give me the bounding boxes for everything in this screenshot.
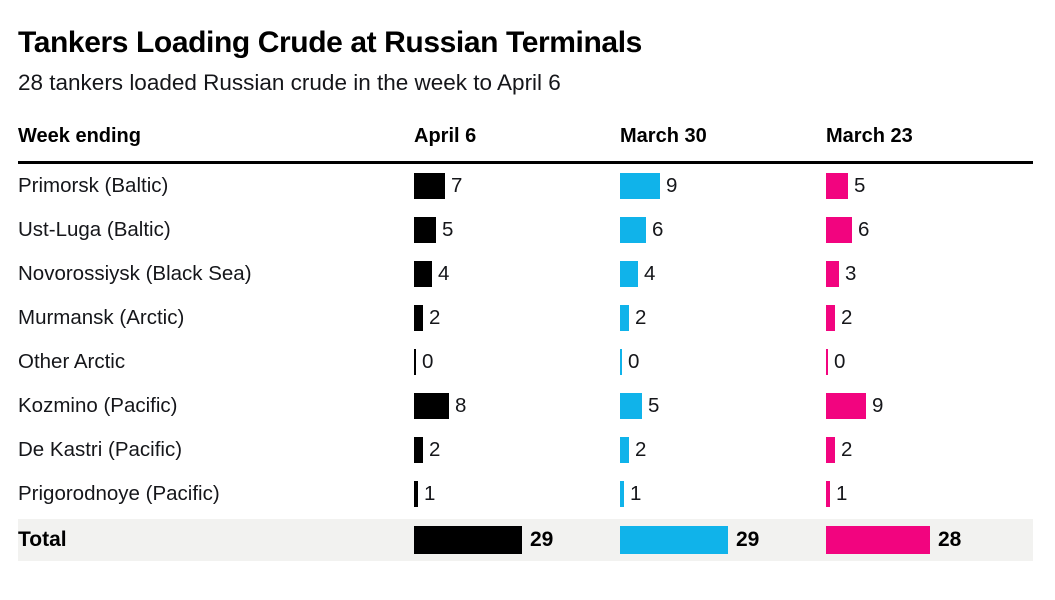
bar-cell-series-0: 0	[414, 349, 620, 375]
bar-series-2	[826, 217, 852, 243]
bar-series-0	[414, 349, 416, 375]
row-label: Prigorodnoye (Pacific)	[18, 482, 414, 506]
total-label: Total	[18, 528, 414, 552]
bar-cell-series-2: 9	[826, 393, 1032, 419]
total-cell-series-0: 29	[414, 526, 620, 554]
row-label: Ust-Luga (Baltic)	[18, 218, 414, 242]
row-label: Kozmino (Pacific)	[18, 394, 414, 418]
total-value-series-2: 28	[938, 528, 961, 552]
column-header-series-1: March 30	[620, 125, 826, 148]
bar-value-series-1: 2	[635, 306, 646, 330]
bar-value-series-0: 8	[455, 394, 466, 418]
total-bar-series-0	[414, 526, 522, 554]
total-value-series-0: 29	[530, 528, 553, 552]
bar-series-0	[414, 217, 436, 243]
bar-series-1	[620, 173, 660, 199]
row-label: Primorsk (Baltic)	[18, 174, 414, 198]
bar-series-1	[620, 481, 624, 507]
bar-cell-series-2: 0	[826, 349, 1032, 375]
page-title: Tankers Loading Crude at Russian Termina…	[18, 0, 1037, 60]
bar-series-0	[414, 481, 418, 507]
bar-value-series-0: 2	[429, 306, 440, 330]
table-row: Prigorodnoye (Pacific)111	[18, 472, 1033, 516]
table-row: Ust-Luga (Baltic)566	[18, 208, 1033, 252]
bar-cell-series-1: 9	[620, 173, 826, 199]
table-body: Primorsk (Baltic)795Ust-Luga (Baltic)566…	[18, 164, 1033, 516]
row-label: Murmansk (Arctic)	[18, 306, 414, 330]
bar-series-2	[826, 393, 866, 419]
bar-value-series-0: 0	[422, 350, 433, 374]
bar-series-1	[620, 217, 646, 243]
table-total-row: Total 29 29 28	[18, 519, 1033, 561]
bar-value-series-1: 9	[666, 174, 677, 198]
bar-value-series-1: 1	[630, 482, 641, 506]
bar-series-2	[826, 305, 835, 331]
total-cell-series-2: 28	[826, 526, 1032, 554]
bar-cell-series-2: 2	[826, 437, 1032, 463]
bar-series-2	[826, 173, 848, 199]
bar-series-2	[826, 349, 828, 375]
bar-series-1	[620, 393, 642, 419]
row-label: Other Arctic	[18, 350, 414, 374]
bar-cell-series-1: 2	[620, 437, 826, 463]
bar-series-0	[414, 305, 423, 331]
bar-series-1	[620, 437, 629, 463]
total-bar-series-2	[826, 526, 930, 554]
bar-value-series-2: 0	[834, 350, 845, 374]
bar-cell-series-1: 4	[620, 261, 826, 287]
bar-value-series-1: 0	[628, 350, 639, 374]
table-row: De Kastri (Pacific)222	[18, 428, 1033, 472]
data-table: Week ending April 6 March 30 March 23 Pr…	[18, 125, 1033, 561]
table-row: Kozmino (Pacific)859	[18, 384, 1033, 428]
bar-cell-series-0: 7	[414, 173, 620, 199]
bar-value-series-0: 1	[424, 482, 435, 506]
bar-value-series-0: 5	[442, 218, 453, 242]
page-subtitle: 28 tankers loaded Russian crude in the w…	[18, 60, 1037, 96]
bar-cell-series-1: 2	[620, 305, 826, 331]
column-header-series-2: March 23	[826, 125, 1032, 148]
total-cell-series-1: 29	[620, 526, 826, 554]
bar-value-series-0: 2	[429, 438, 440, 462]
column-header-series-0: April 6	[414, 125, 620, 148]
total-value-series-1: 29	[736, 528, 759, 552]
bar-cell-series-0: 4	[414, 261, 620, 287]
bar-series-1	[620, 261, 638, 287]
table-row: Novorossiysk (Black Sea)443	[18, 252, 1033, 296]
column-header-week-ending: Week ending	[18, 125, 414, 148]
bar-cell-series-2: 1	[826, 481, 1032, 507]
bar-cell-series-2: 3	[826, 261, 1032, 287]
bar-value-series-1: 2	[635, 438, 646, 462]
bar-value-series-2: 2	[841, 306, 852, 330]
table-row: Other Arctic000	[18, 340, 1033, 384]
bar-value-series-1: 5	[648, 394, 659, 418]
row-label: Novorossiysk (Black Sea)	[18, 262, 414, 286]
bar-series-0	[414, 437, 423, 463]
bar-cell-series-2: 2	[826, 305, 1032, 331]
bar-value-series-2: 6	[858, 218, 869, 242]
bar-value-series-2: 5	[854, 174, 865, 198]
bar-series-0	[414, 173, 445, 199]
bar-value-series-1: 6	[652, 218, 663, 242]
table-row: Primorsk (Baltic)795	[18, 164, 1033, 208]
bar-cell-series-1: 5	[620, 393, 826, 419]
bar-value-series-2: 9	[872, 394, 883, 418]
row-label: De Kastri (Pacific)	[18, 438, 414, 462]
bar-value-series-0: 7	[451, 174, 462, 198]
bar-cell-series-2: 5	[826, 173, 1032, 199]
bar-cell-series-1: 1	[620, 481, 826, 507]
bar-series-1	[620, 305, 629, 331]
bar-series-2	[826, 261, 839, 287]
table-row: Murmansk (Arctic)222	[18, 296, 1033, 340]
bar-cell-series-1: 6	[620, 217, 826, 243]
bar-cell-series-0: 1	[414, 481, 620, 507]
bar-cell-series-0: 8	[414, 393, 620, 419]
chart-page: Tankers Loading Crude at Russian Termina…	[0, 0, 1055, 600]
bar-cell-series-2: 6	[826, 217, 1032, 243]
bar-series-1	[620, 349, 622, 375]
total-bar-series-1	[620, 526, 728, 554]
bar-cell-series-0: 2	[414, 305, 620, 331]
bar-cell-series-1: 0	[620, 349, 826, 375]
bar-series-2	[826, 437, 835, 463]
bar-value-series-2: 3	[845, 262, 856, 286]
bar-value-series-2: 1	[836, 482, 847, 506]
bar-series-0	[414, 393, 449, 419]
table-header-row: Week ending April 6 March 30 March 23	[18, 125, 1033, 159]
bar-value-series-2: 2	[841, 438, 852, 462]
bar-value-series-1: 4	[644, 262, 655, 286]
bar-value-series-0: 4	[438, 262, 449, 286]
bar-series-2	[826, 481, 830, 507]
bar-series-0	[414, 261, 432, 287]
bar-cell-series-0: 5	[414, 217, 620, 243]
bar-cell-series-0: 2	[414, 437, 620, 463]
